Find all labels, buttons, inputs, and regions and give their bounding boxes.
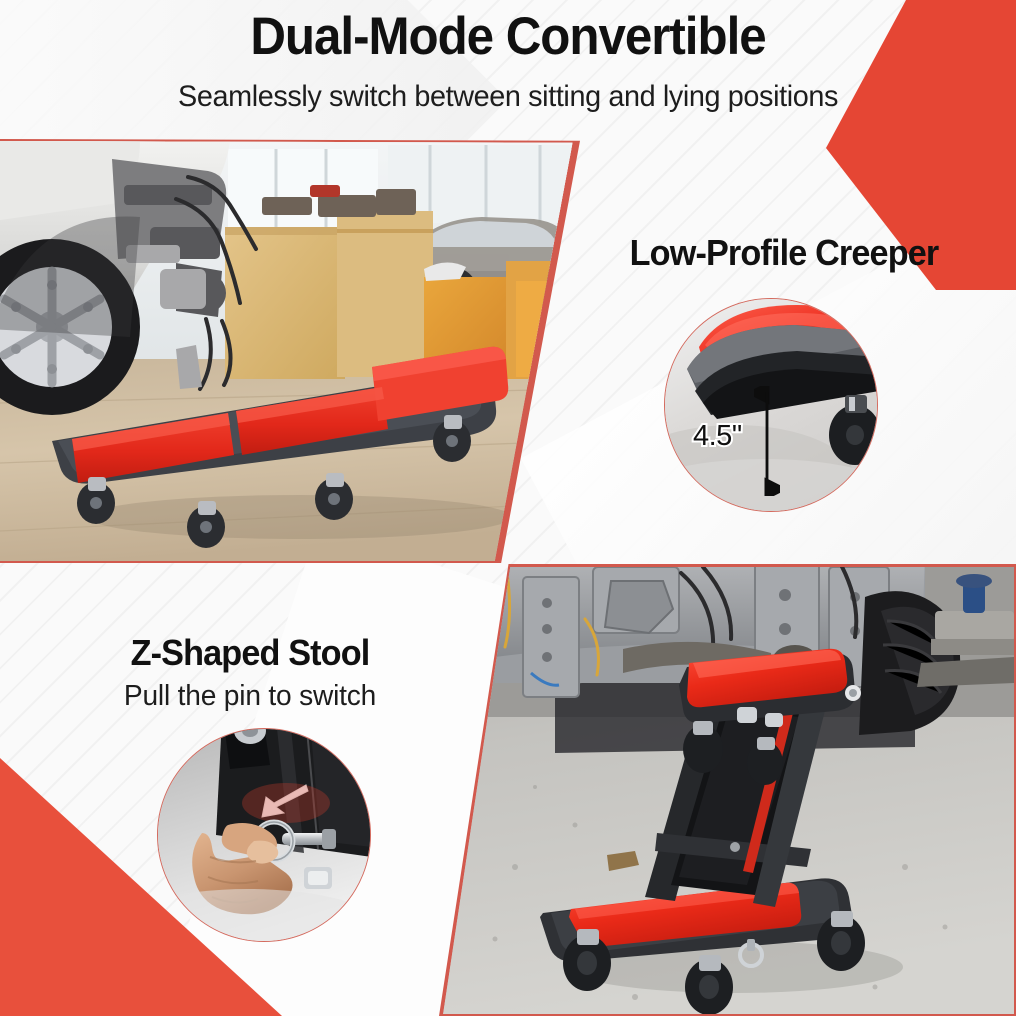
pin-closeup-photo xyxy=(157,728,371,942)
page-subtitle: Seamlessly switch between sitting and ly… xyxy=(20,80,995,115)
dimension-arrow-icon xyxy=(754,386,780,496)
photo-creeper-flat xyxy=(0,141,576,561)
photo-z-stool xyxy=(435,567,1014,1014)
creeper-height-label: 4.5" xyxy=(693,420,742,453)
stool-section-heading: Z-Shaped Stool xyxy=(41,632,459,674)
stool-section-subheading: Pull the pin to switch xyxy=(37,680,464,713)
page-title: Dual-Mode Convertible xyxy=(36,8,981,65)
creeper-section-heading: Low-Profile Creeper xyxy=(571,232,997,274)
infographic-canvas: Dual-Mode Convertible Seamlessly switch … xyxy=(0,0,1016,1016)
